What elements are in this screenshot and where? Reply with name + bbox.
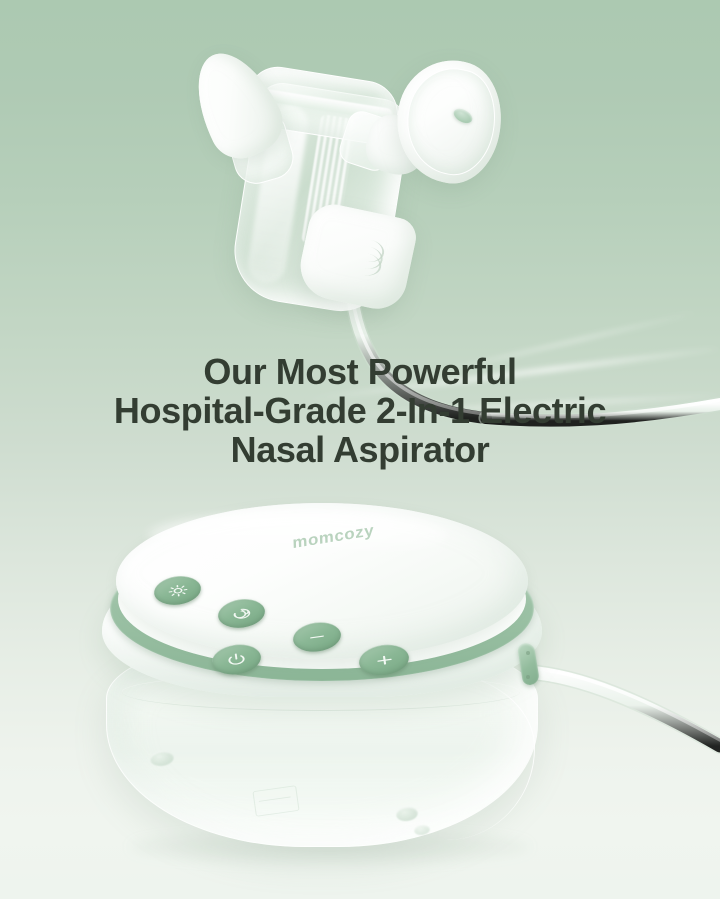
minus-icon [305,629,329,645]
port-screw [526,651,530,655]
page-title: Our Most Powerful Hospital-Grade 2-In-1 … [0,352,720,469]
nozzle-assembly [185,42,525,342]
plus-icon [372,652,397,669]
aspirator-base-unit: momcozy [96,495,566,855]
headline-line-3: Nasal Aspirator [0,430,720,469]
headline-line-2: Hospital-Grade 2-In-1 Electric [0,391,720,430]
spiral-icon [230,605,254,621]
headline-line-1: Our Most Powerful [0,352,720,391]
light-icon [166,582,190,598]
product-hero-banner: Our Most Powerful Hospital-Grade 2-In-1 … [0,0,720,899]
power-icon [224,651,249,668]
port-screw [526,675,530,679]
